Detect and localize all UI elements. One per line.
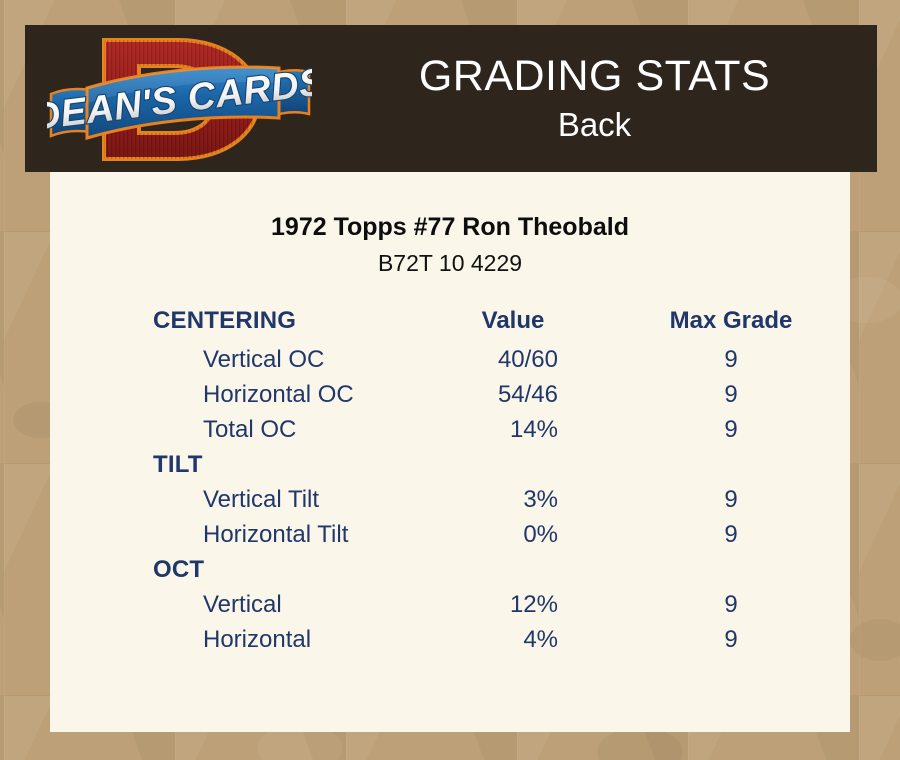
- section-grade-spacer: [620, 552, 850, 587]
- stat-label: Horizontal: [50, 622, 420, 657]
- stat-label: Vertical OC: [50, 342, 420, 377]
- section-header-row: OCT: [50, 552, 850, 587]
- stat-max-grade: 9: [620, 377, 850, 412]
- page-subtitle: Back: [558, 105, 631, 145]
- stat-max-grade: 9: [620, 587, 850, 622]
- stat-label: Vertical Tilt: [50, 482, 420, 517]
- table-row: Vertical12%9: [50, 587, 850, 622]
- stat-max-grade: 9: [620, 482, 850, 517]
- table-row: Total OC14%9: [50, 412, 850, 447]
- stat-max-grade: 9: [620, 622, 850, 657]
- stat-max-grade: 9: [620, 412, 850, 447]
- stat-value: 40/60: [420, 342, 620, 377]
- column-header-section: CENTERING: [50, 306, 420, 342]
- table-row: Vertical Tilt3%9: [50, 482, 850, 517]
- table-row: Horizontal OC54/469: [50, 377, 850, 412]
- stat-label: Horizontal OC: [50, 377, 420, 412]
- table-row: Vertical OC40/609: [50, 342, 850, 377]
- card-code: B72T 10 4229: [50, 249, 850, 277]
- section-value-spacer: [420, 552, 620, 587]
- stat-label: Vertical: [50, 587, 420, 622]
- table-body: Vertical OC40/609Horizontal OC54/469Tota…: [50, 342, 850, 657]
- content-panel: 1972 Topps #77 Ron Theobald B72T 10 4229…: [50, 172, 850, 732]
- stat-value: 12%: [420, 587, 620, 622]
- section-header-row: TILT: [50, 447, 850, 482]
- stat-label: Horizontal Tilt: [50, 517, 420, 552]
- table-header-row: CENTERING Value Max Grade: [50, 306, 850, 342]
- stat-label: Total OC: [50, 412, 420, 447]
- stat-value: 3%: [420, 482, 620, 517]
- section-value-spacer: [420, 447, 620, 482]
- column-header-max-grade: Max Grade: [620, 306, 850, 342]
- stat-value: 54/46: [420, 377, 620, 412]
- stat-value: 0%: [420, 517, 620, 552]
- stat-value: 14%: [420, 412, 620, 447]
- stat-max-grade: 9: [620, 517, 850, 552]
- column-header-value: Value: [420, 306, 620, 342]
- card-title: 1972 Topps #77 Ron Theobald: [50, 212, 850, 242]
- stat-value: 4%: [420, 622, 620, 657]
- table-row: Horizontal4%9: [50, 622, 850, 657]
- section-name: OCT: [50, 552, 420, 587]
- header-bar: DEAN'S CARDS GRADING STATS Back: [25, 25, 877, 172]
- section-grade-spacer: [620, 447, 850, 482]
- section-name: TILT: [50, 447, 420, 482]
- page-title: GRADING STATS: [419, 52, 770, 101]
- header-text-block: GRADING STATS Back: [312, 25, 877, 172]
- table-row: Horizontal Tilt0%9: [50, 517, 850, 552]
- stat-max-grade: 9: [620, 342, 850, 377]
- deans-cards-logo: DEAN'S CARDS: [47, 28, 312, 171]
- grading-stats-table: CENTERING Value Max Grade Vertical OC40/…: [50, 306, 850, 657]
- table-header: CENTERING Value Max Grade: [50, 306, 850, 342]
